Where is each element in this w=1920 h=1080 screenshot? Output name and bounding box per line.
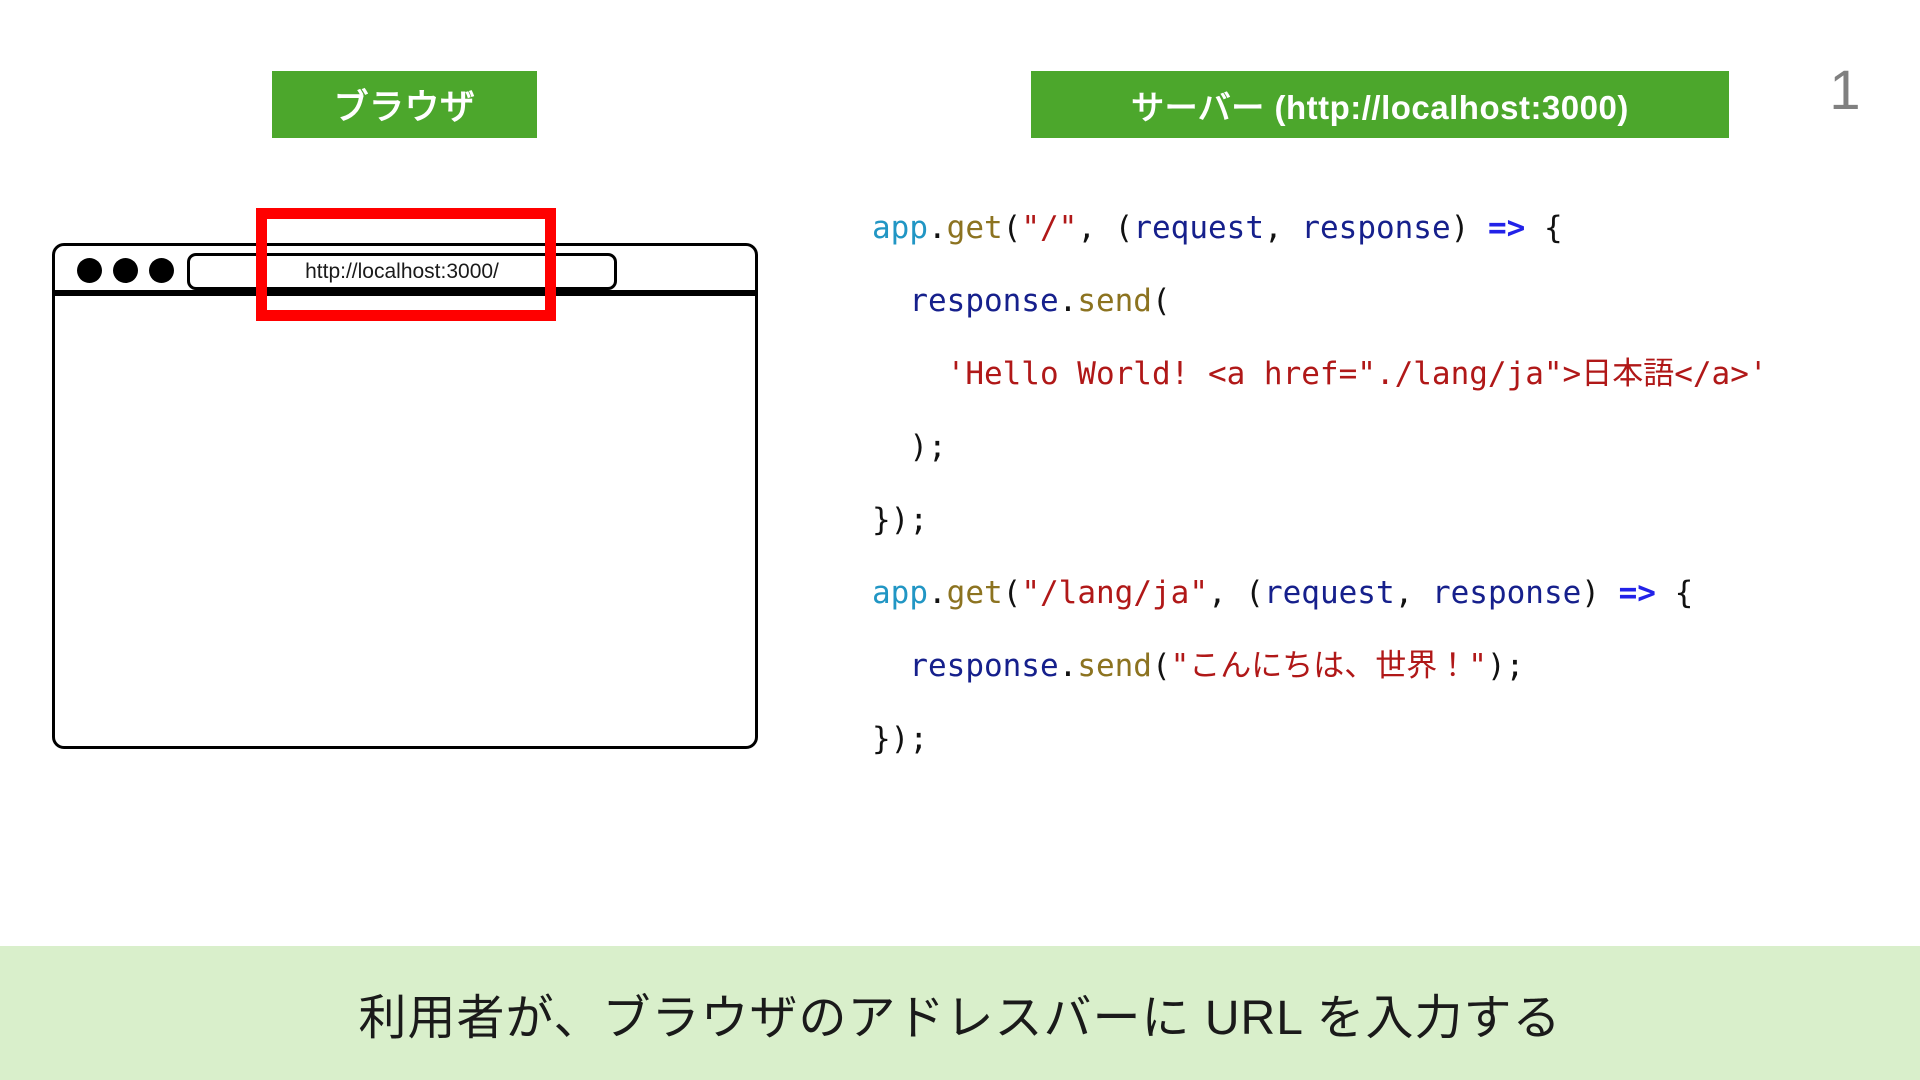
address-bar-value[interactable]: http://localhost:3000/ (305, 260, 499, 284)
code-token: ) (1581, 575, 1618, 611)
code-token: ( (1152, 283, 1171, 319)
code-token: response (909, 648, 1058, 684)
code-token: ( (1003, 210, 1022, 246)
code-token: app (872, 210, 928, 246)
window-dot-2-icon[interactable] (113, 258, 138, 283)
code-line: 'Hello World! <a href="./lang/ja">日本語</a… (872, 338, 1882, 411)
code-token: , ( (1077, 210, 1133, 246)
code-token: . (1059, 648, 1078, 684)
code-line: }); (872, 703, 1882, 776)
code-token: "/lang/ja" (1021, 575, 1208, 611)
code-token: => (1488, 210, 1525, 246)
code-line: ); (872, 411, 1882, 484)
code-line: response.send( (872, 265, 1882, 338)
code-token: { (1525, 210, 1562, 246)
code-token: response (1432, 575, 1581, 611)
code-line: response.send("こんにちは、世界！"); (872, 630, 1882, 703)
badge-browser-label: ブラウザ (333, 79, 475, 130)
code-token: get (947, 575, 1003, 611)
code-token: get (947, 210, 1003, 246)
badge-browser: ブラウザ (272, 71, 537, 138)
code-token: }); (872, 721, 928, 757)
code-token: response (909, 283, 1058, 319)
badge-server: サーバー (http://localhost:3000) (1031, 71, 1729, 138)
code-token: . (1059, 283, 1078, 319)
code-token: send (1077, 648, 1152, 684)
code-token: 'Hello World! <a href="./lang/ja">日本語</a… (947, 356, 1768, 392)
browser-window-mock: http://localhost:3000/ (52, 243, 758, 749)
browser-titlebar: http://localhost:3000/ (52, 243, 758, 293)
code-token: app (872, 575, 928, 611)
code-token: request (1264, 575, 1395, 611)
code-token: ) (1451, 210, 1488, 246)
code-token: . (928, 575, 947, 611)
code-token: }); (872, 502, 928, 538)
code-token: { (1656, 575, 1693, 611)
code-token: => (1619, 575, 1656, 611)
code-token: ); (1487, 648, 1524, 684)
code-token: request (1133, 210, 1264, 246)
code-line: app.get("/lang/ja", (request, response) … (872, 557, 1882, 630)
code-line: app.get("/", (request, response) => { (872, 192, 1882, 265)
code-token (872, 283, 909, 319)
code-token: , ( (1208, 575, 1264, 611)
window-dot-1-icon[interactable] (77, 258, 102, 283)
code-token: response (1301, 210, 1450, 246)
code-token: ); (872, 429, 947, 465)
code-token: "/" (1021, 210, 1077, 246)
code-token (872, 356, 947, 392)
code-line: }); (872, 484, 1882, 557)
code-token: , (1264, 210, 1301, 246)
browser-viewport (52, 293, 758, 749)
browser-window-dots (77, 258, 174, 283)
page-number: 1 (1800, 62, 1890, 118)
caption-bar: 利用者が、ブラウザのアドレスバーに URL を入力する (0, 946, 1920, 1080)
code-token: send (1077, 283, 1152, 319)
caption-text: 利用者が、ブラウザのアドレスバーに URL を入力する (359, 978, 1562, 1048)
code-token: ( (1152, 648, 1171, 684)
code-token (872, 648, 909, 684)
code-token: "こんにちは、世界！" (1171, 648, 1487, 684)
address-bar[interactable]: http://localhost:3000/ (187, 253, 617, 290)
badge-server-label: サーバー (http://localhost:3000) (1131, 81, 1629, 129)
code-token: ( (1003, 575, 1022, 611)
window-dot-3-icon[interactable] (149, 258, 174, 283)
server-code-block: app.get("/", (request, response) => { re… (872, 192, 1882, 776)
code-token: . (928, 210, 947, 246)
slide-canvas: ブラウザ サーバー (http://localhost:3000) 1 http… (0, 0, 1920, 1080)
code-token: , (1395, 575, 1432, 611)
